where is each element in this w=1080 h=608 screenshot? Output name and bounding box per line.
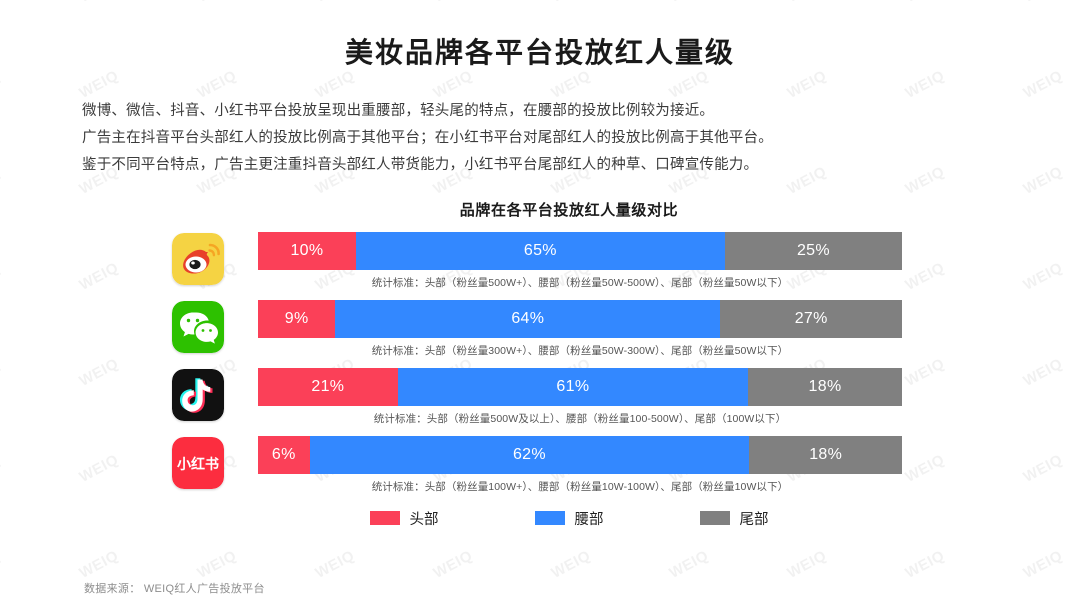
- bar-segment-head: 21%: [258, 368, 398, 406]
- bar-segment-waist: 64%: [335, 300, 720, 338]
- xiaohongshu-icon: 小红书: [172, 437, 224, 489]
- chart-row-xiaohongshu: 小红书 6% 62% 18% 统计标准：头部（粉丝量100W+）、腰部（粉丝量1…: [0, 436, 1080, 504]
- intro-line-1: 微博、微信、抖音、小红书平台投放呈现出重腰部，轻头尾的特点，在腰部的投放比例较为…: [82, 98, 1012, 125]
- chart-row-douyin: 21% 61% 18% 统计标准：头部（粉丝量500W及以上）、腰部（粉丝量10…: [0, 368, 1080, 436]
- bar-area-xiaohongshu: 6% 62% 18% 统计标准：头部（粉丝量100W+）、腰部（粉丝量10W-1…: [258, 436, 902, 494]
- bar-segment-tail: 18%: [749, 436, 902, 474]
- chart-row-wechat: 9% 64% 27% 统计标准：头部（粉丝量300W+）、腰部（粉丝量50W-3…: [0, 300, 1080, 368]
- slide-page: 美妆品牌各平台投放红人量级 微博、微信、抖音、小红书平台投放呈现出重腰部，轻头尾…: [0, 0, 1080, 608]
- bar-segment-head: 9%: [258, 300, 335, 338]
- bar-segment-waist: 61%: [398, 368, 748, 406]
- legend-swatch-gray-icon: [700, 511, 730, 525]
- xiaohongshu-icon-glyph: 小红书: [172, 437, 224, 489]
- intro-paragraph: 微博、微信、抖音、小红书平台投放呈现出重腰部，轻头尾的特点，在腰部的投放比例较为…: [82, 98, 1012, 179]
- legend-label-head: 头部: [410, 508, 439, 529]
- bar-segment-tail: 25%: [725, 232, 902, 270]
- legend-item-waist: 腰部: [535, 508, 604, 529]
- stacked-bar-douyin: 21% 61% 18%: [258, 368, 902, 406]
- legend-item-head: 头部: [370, 508, 439, 529]
- bar-segment-waist: 65%: [356, 232, 725, 270]
- bar-area-douyin: 21% 61% 18% 统计标准：头部（粉丝量500W及以上）、腰部（粉丝量10…: [258, 368, 902, 426]
- bar-segment-waist: 62%: [310, 436, 750, 474]
- svg-text:小红书: 小红书: [177, 456, 219, 472]
- page-title: 美妆品牌各平台投放红人量级: [0, 36, 1080, 70]
- douyin-icon-glyph: [172, 369, 224, 421]
- bar-footnote-douyin: 统计标准：头部（粉丝量500W及以上）、腰部（粉丝量100-500W）、尾部（1…: [258, 411, 902, 426]
- legend-swatch-blue-icon: [535, 511, 565, 525]
- legend-label-waist: 腰部: [575, 508, 604, 529]
- weibo-icon: [172, 233, 224, 285]
- legend-swatch-red-icon: [370, 511, 400, 525]
- bar-footnote-weibo: 统计标准：头部（粉丝量500W+）、腰部（粉丝量50W-500W）、尾部（粉丝量…: [258, 275, 902, 290]
- bar-segment-head: 6%: [258, 436, 310, 474]
- douyin-icon: [172, 369, 224, 421]
- chart-legend: 头部 腰部 尾部: [58, 508, 1080, 529]
- intro-line-2: 广告主在抖音平台头部红人的投放比例高于其他平台；在小红书平台对尾部红人的投放比例…: [82, 125, 1012, 152]
- wechat-icon-glyph: [172, 301, 224, 353]
- chart-title: 品牌在各平台投放红人量级对比: [58, 199, 1080, 220]
- stacked-bar-weibo: 10% 65% 25%: [258, 232, 902, 270]
- stacked-bar-xiaohongshu: 6% 62% 18%: [258, 436, 902, 474]
- bar-area-wechat: 9% 64% 27% 统计标准：头部（粉丝量300W+）、腰部（粉丝量50W-3…: [258, 300, 902, 358]
- legend-item-tail: 尾部: [700, 508, 769, 529]
- data-source-note: 数据来源： WEIQ红人广告投放平台: [84, 580, 265, 596]
- title-container: 美妆品牌各平台投放红人量级: [0, 0, 1080, 70]
- stacked-bar-wechat: 9% 64% 27%: [258, 300, 902, 338]
- legend-label-tail: 尾部: [740, 508, 769, 529]
- intro-line-3: 鉴于不同平台特点，广告主更注重抖音头部红人带货能力，小红书平台尾部红人的种草、口…: [82, 152, 1012, 179]
- bar-segment-tail: 18%: [748, 368, 902, 406]
- bar-footnote-xiaohongshu: 统计标准：头部（粉丝量100W+）、腰部（粉丝量10W-100W）、尾部（粉丝量…: [258, 479, 902, 494]
- chart-block: 品牌在各平台投放红人量级对比 1: [0, 199, 1080, 529]
- bar-area-weibo: 10% 65% 25% 统计标准：头部（粉丝量500W+）、腰部（粉丝量50W-…: [258, 232, 902, 290]
- wechat-icon: [172, 301, 224, 353]
- bar-footnote-wechat: 统计标准：头部（粉丝量300W+）、腰部（粉丝量50W-300W）、尾部（粉丝量…: [258, 343, 902, 358]
- chart-rows: 10% 65% 25% 统计标准：头部（粉丝量500W+）、腰部（粉丝量50W-…: [0, 232, 1080, 504]
- chart-row-weibo: 10% 65% 25% 统计标准：头部（粉丝量500W+）、腰部（粉丝量50W-…: [0, 232, 1080, 300]
- weibo-icon-glyph: [172, 233, 224, 285]
- bar-segment-head: 10%: [258, 232, 356, 270]
- bar-segment-tail: 27%: [720, 300, 902, 338]
